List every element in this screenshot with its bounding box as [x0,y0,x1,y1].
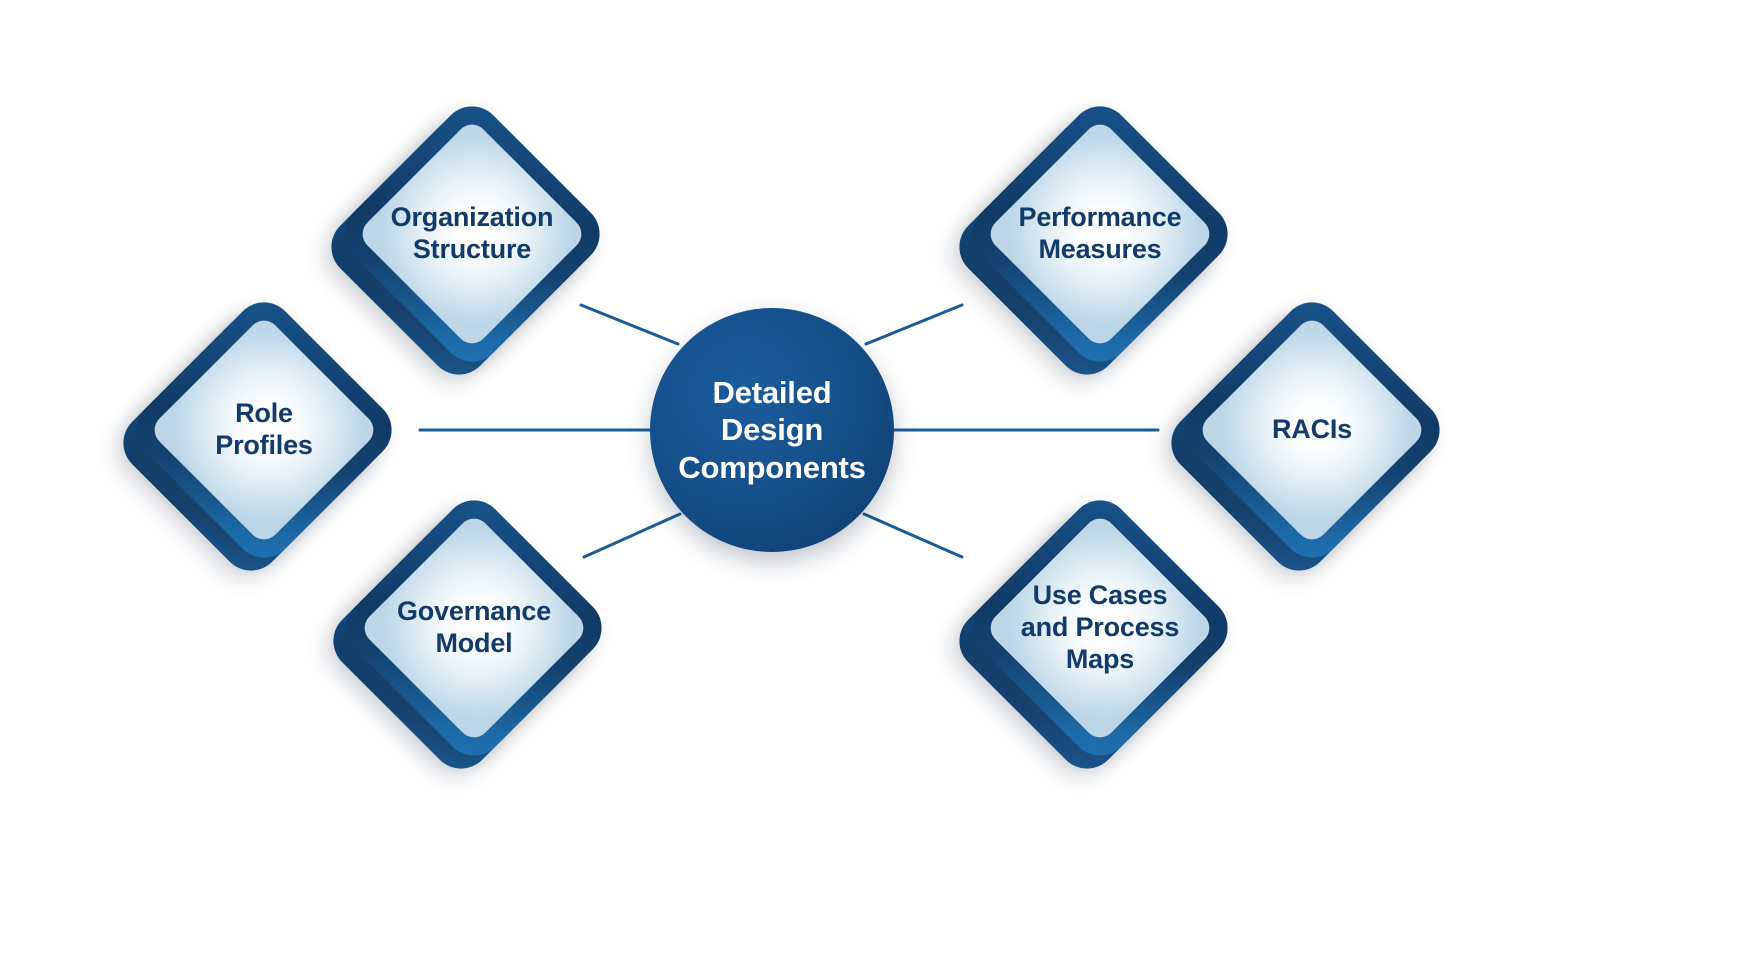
diagram-canvas: OrganizationStructureRoleProfilesGoverna… [0,0,1749,966]
center-hub-label: DetailedDesignComponents [678,374,865,486]
diamond-node-use-cases-and-process-maps[interactable]: Use Casesand ProcessMaps [960,488,1240,768]
diamond-shape-governance-model [334,488,614,768]
connector-hub-to-performance-measures [866,305,962,344]
center-hub-label-line: Design [678,411,865,448]
diamond-border-ring [960,488,1240,768]
diamond-border-ring [334,488,614,768]
center-hub-label-line: Components [678,449,865,486]
diamond-shape-use-cases-and-process-maps [960,488,1240,768]
center-hub-node[interactable]: DetailedDesignComponents [650,308,894,552]
center-hub-label-line: Detailed [678,374,865,411]
connector-hub-to-use-cases [864,514,962,557]
diamond-node-governance-model[interactable]: GovernanceModel [334,488,614,768]
